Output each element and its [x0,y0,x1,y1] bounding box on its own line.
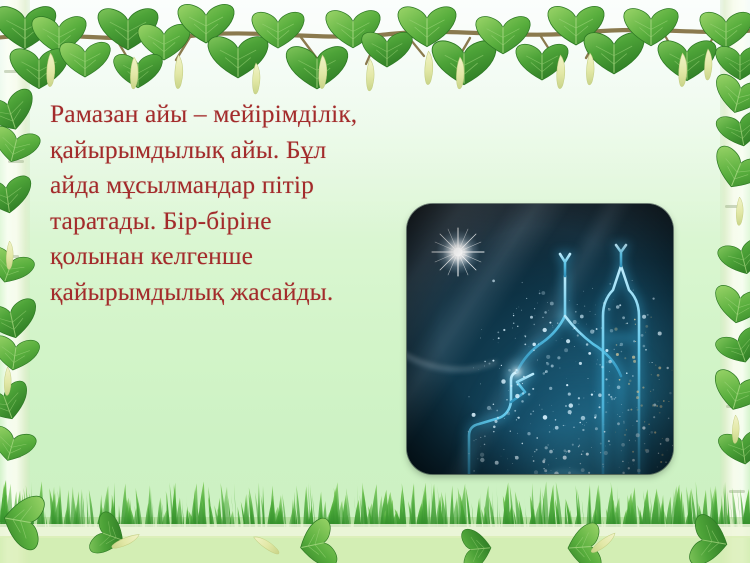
birch-trunk-right [720,0,750,563]
image-vignette [407,204,673,474]
grass-blades [0,481,750,527]
presentation-slide: Рамазан айы – мейірімділік, қайырымдылық… [0,0,750,563]
ramadan-mosque-image[interactable] [407,204,673,474]
birch-trunk-left [0,0,30,563]
grass-border [0,480,750,527]
slide-caption-text: Рамазан айы – мейірімділік, қайырымдылық… [50,96,420,309]
